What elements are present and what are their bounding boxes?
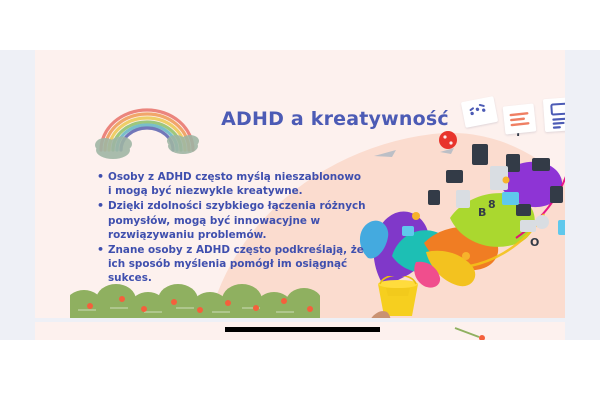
presentation-viewer: f 8 O B ADHD a kreatywność bbox=[0, 0, 600, 400]
slide-next-preview[interactable] bbox=[35, 322, 565, 340]
bullet-marker: • bbox=[97, 170, 108, 184]
bullet-list: • Osoby z ADHD często myślą nieszablonow… bbox=[97, 170, 367, 287]
next-slide-title-placeholder bbox=[225, 327, 380, 332]
leaf-sprig-icon bbox=[453, 326, 489, 340]
bullet-marker: • bbox=[97, 199, 108, 213]
hand-holding-bucket bbox=[335, 308, 413, 318]
bullet-marker: • bbox=[97, 243, 108, 257]
bush-border-decoration bbox=[70, 276, 320, 318]
list-item-text: Dzięki zdolności szybkiego łączenia różn… bbox=[108, 199, 367, 242]
list-item: • Osoby z ADHD często myślą nieszablonow… bbox=[97, 170, 367, 198]
list-item-text: Osoby z ADHD często myślą nieszablonowo … bbox=[108, 170, 367, 198]
page-title: ADHD a kreatywność bbox=[185, 108, 485, 130]
svg-text:B: B bbox=[478, 206, 486, 219]
document-layout-icon[interactable] bbox=[543, 97, 565, 132]
svg-text:O: O bbox=[530, 236, 539, 249]
svg-text:8: 8 bbox=[488, 198, 496, 211]
text-lines-icon[interactable] bbox=[503, 103, 537, 134]
slide-adhd-kreatywnosc[interactable]: f 8 O B ADHD a kreatywność bbox=[35, 50, 565, 318]
list-item: • Dzięki zdolności szybkiego łączenia ró… bbox=[97, 199, 367, 242]
